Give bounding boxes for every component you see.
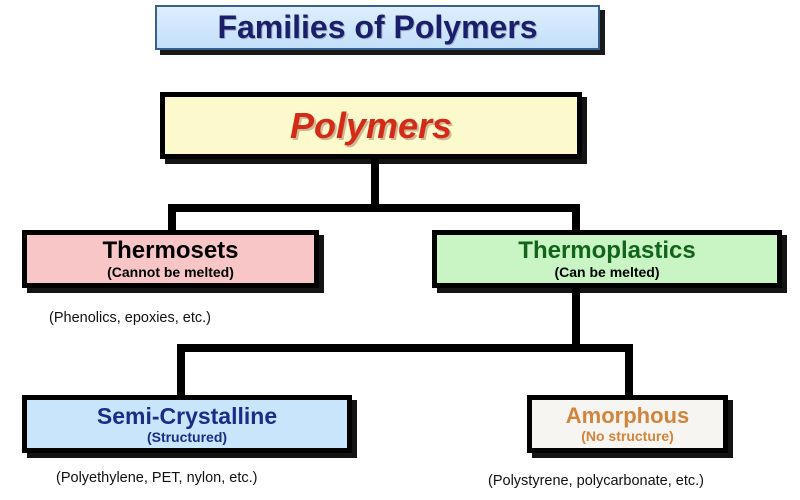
node-amorphous-label: Amorphous xyxy=(566,404,689,427)
caption-semi-crystalline: (Polyethylene, PET, nylon, etc.) xyxy=(56,470,258,486)
node-semi-crystalline-sublabel: (Structured) xyxy=(147,430,227,445)
connector-drop-semicrystalline xyxy=(177,344,185,399)
node-semi-crystalline[interactable]: Semi-Crystalline (Structured) xyxy=(22,395,352,453)
node-thermoplastics-sublabel: (Can be melted) xyxy=(554,265,659,280)
caption-thermosets: (Phenolics, epoxies, etc.) xyxy=(49,310,211,326)
page-title: Families of Polymers xyxy=(217,9,537,46)
connector-thermoplastics-stem xyxy=(572,288,580,350)
node-semi-crystalline-label: Semi-Crystalline xyxy=(97,404,277,428)
node-polymers[interactable]: Polymers xyxy=(160,92,582,159)
connector-drop-amorphous xyxy=(625,344,633,399)
connector-level2-bar xyxy=(168,204,580,212)
node-amorphous-sublabel: (No structure) xyxy=(581,429,674,444)
node-polymers-label: Polymers xyxy=(290,107,452,145)
node-amorphous[interactable]: Amorphous (No structure) xyxy=(527,395,728,453)
node-thermosets-sublabel: (Cannot be melted) xyxy=(107,265,234,280)
connector-root-stem xyxy=(371,159,379,209)
node-thermosets[interactable]: Thermosets (Cannot be melted) xyxy=(22,230,319,288)
node-thermosets-label: Thermosets xyxy=(102,238,238,263)
page-title-banner: Families of Polymers xyxy=(155,5,600,50)
node-thermoplastics[interactable]: Thermoplastics (Can be melted) xyxy=(432,230,782,288)
diagram-canvas: Families of Polymers Polymers Thermosets… xyxy=(0,0,800,500)
node-thermoplastics-label: Thermoplastics xyxy=(518,238,695,263)
caption-amorphous: (Polystyrene, polycarbonate, etc.) xyxy=(488,473,704,489)
connector-level3-bar xyxy=(177,344,633,352)
